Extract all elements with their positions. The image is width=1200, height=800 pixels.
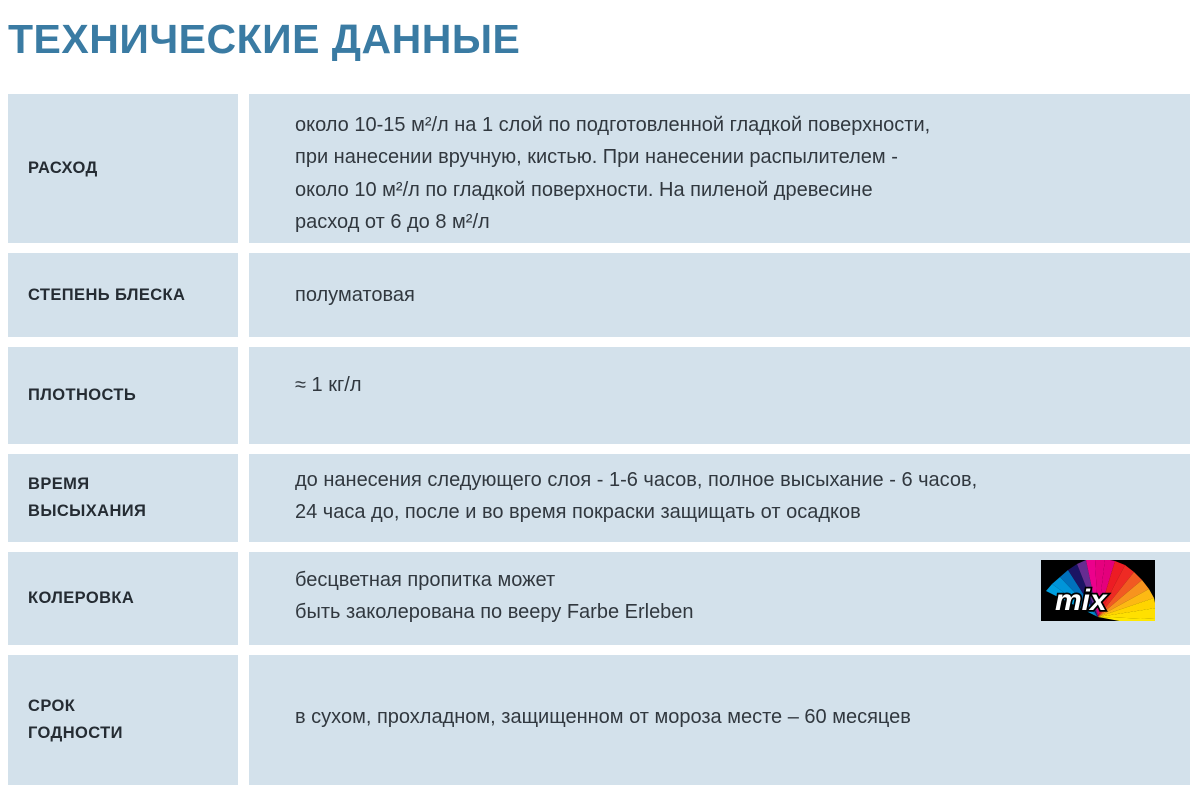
spec-label-cell: КОЛЕРОВКА	[8, 552, 238, 645]
spec-value-cell: около 10-15 м²/л на 1 слой по подготовле…	[249, 94, 1190, 243]
technical-data-page: ТЕХНИЧЕСКИЕ ДАННЫЕ РАСХОД около 10-15 м²…	[0, 0, 1200, 800]
spec-label: ПЛОТНОСТЬ	[28, 382, 136, 409]
spec-label: РАСХОД	[28, 155, 98, 182]
table-row: ВРЕМЯ ВЫСЫХАНИЯ до нанесения следующего …	[8, 454, 1190, 542]
table-row: РАСХОД около 10-15 м²/л на 1 слой по под…	[8, 94, 1190, 243]
spec-value: около 10-15 м²/л на 1 слой по подготовле…	[295, 109, 930, 239]
page-title: ТЕХНИЧЕСКИЕ ДАННЫЕ	[8, 17, 520, 62]
table-row: СРОК ГОДНОСТИ в сухом, прохладном, защищ…	[8, 655, 1190, 785]
table-row: КОЛЕРОВКА бесцветная пропитка может быть…	[8, 552, 1190, 645]
spec-label: КОЛЕРОВКА	[28, 585, 134, 612]
spec-label: СТЕПЕНЬ БЛЕСКА	[28, 282, 185, 309]
spec-label-cell: ВРЕМЯ ВЫСЫХАНИЯ	[8, 454, 238, 542]
spec-value-cell: бесцветная пропитка может быть заколеров…	[249, 552, 1190, 645]
spec-label-cell: РАСХОД	[8, 94, 238, 243]
table-row: СТЕПЕНЬ БЛЕСКА полуматовая	[8, 253, 1190, 337]
spec-label-cell: ПЛОТНОСТЬ	[8, 347, 238, 444]
spec-label: ВРЕМЯ ВЫСЫХАНИЯ	[28, 471, 146, 524]
svg-text:mix: mix	[1055, 584, 1108, 617]
table-row: ПЛОТНОСТЬ ≈ 1 кг/л	[8, 347, 1190, 444]
spec-value: в сухом, прохладном, защищенном от мороз…	[295, 701, 911, 733]
spec-value: ≈ 1 кг/л	[295, 369, 361, 401]
spec-value-cell: в сухом, прохладном, защищенном от мороз…	[249, 655, 1190, 785]
mix-logo: mix	[1041, 560, 1155, 621]
spec-value-cell: до нанесения следующего слоя - 1-6 часов…	[249, 454, 1190, 542]
spec-value: бесцветная пропитка может быть заколеров…	[295, 564, 694, 629]
spec-label-cell: СТЕПЕНЬ БЛЕСКА	[8, 253, 238, 337]
spec-label-cell: СРОК ГОДНОСТИ	[8, 655, 238, 785]
spec-value-cell: ≈ 1 кг/л	[249, 347, 1190, 444]
spec-value-cell: полуматовая	[249, 253, 1190, 337]
spec-value: до нанесения следующего слоя - 1-6 часов…	[295, 464, 977, 529]
spec-value: полуматовая	[295, 279, 415, 311]
spec-label: СРОК ГОДНОСТИ	[28, 693, 123, 746]
technical-data-table: РАСХОД около 10-15 м²/л на 1 слой по под…	[8, 94, 1190, 785]
